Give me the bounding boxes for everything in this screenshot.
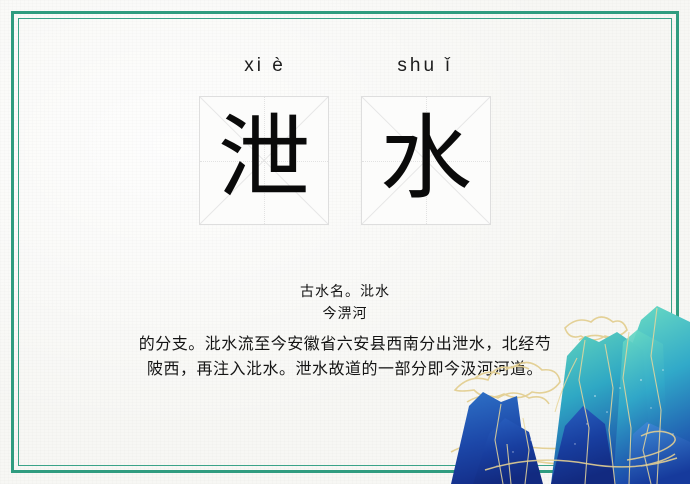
page-root: xi è shu ǐ 泄 [0, 0, 690, 484]
character-row: 泄 水 [199, 96, 491, 225]
character-glyph-2: 水 [362, 97, 490, 224]
pinyin-char-1: xi è [199, 56, 331, 75]
definition-body: 的分支。沘水流至今安徽省六安县西南分出泄水，北经芍 陂西，再注入沘水。泄水故道的… [0, 331, 690, 381]
definition-block: 古水名。沘水 今淠河 的分支。沘水流至今安徽省六安县西南分出泄水，北经芍 陂西，… [0, 281, 690, 381]
pinyin-row: xi è shu ǐ [199, 56, 491, 75]
character-cell-1: 泄 [199, 96, 329, 225]
pinyin-char-2: shu ǐ [359, 56, 491, 75]
character-cell-2: 水 [361, 96, 491, 225]
character-glyph-1: 泄 [200, 97, 328, 224]
definition-body-line-1: 的分支。沘水流至今安徽省六安县西南分出泄水，北经芍 [88, 331, 602, 356]
definition-head-line-1: 古水名。沘水 [0, 281, 690, 303]
definition-head-line-2: 今淠河 [0, 303, 690, 325]
definition-body-line-2: 陂西，再注入沘水。泄水故道的一部分即今汲河河道。 [88, 356, 602, 381]
decorative-border-inner [18, 18, 672, 466]
